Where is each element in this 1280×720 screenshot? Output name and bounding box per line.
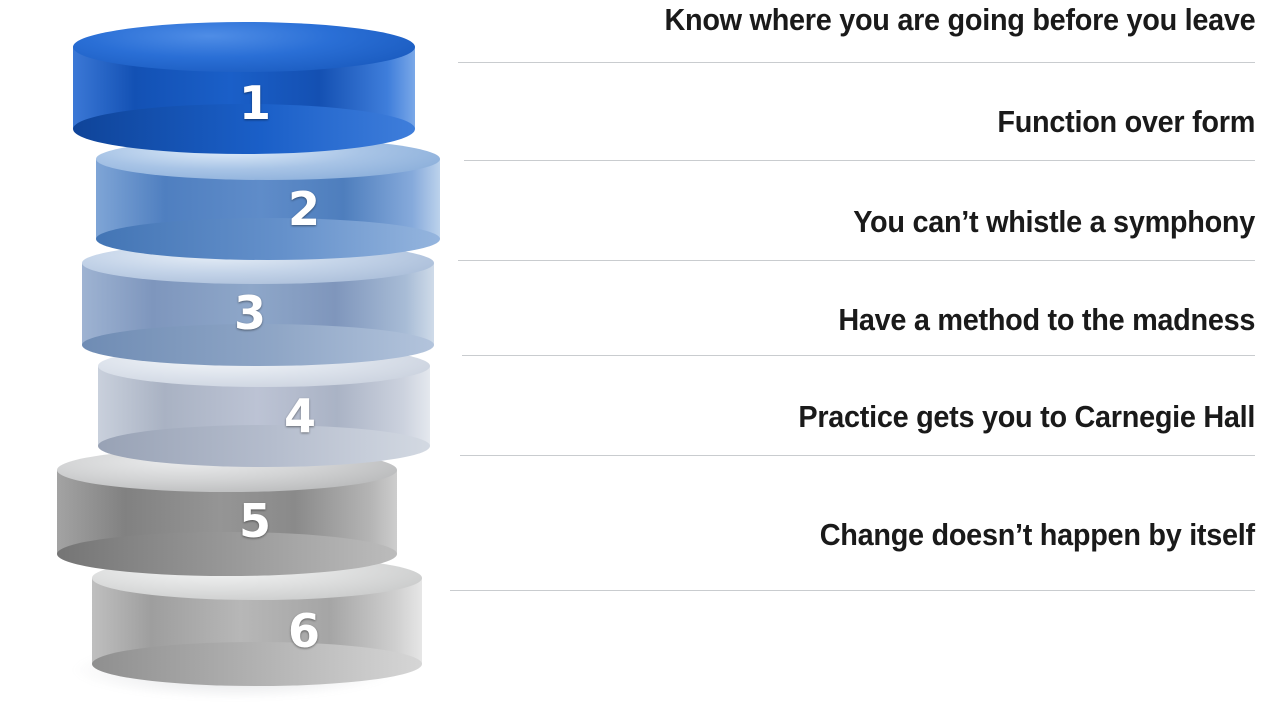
list-item-label: Practice gets you to Carnegie Hall: [798, 399, 1255, 435]
cylinder-4-number: 4: [284, 393, 316, 439]
cylinder-1-number: 1: [239, 80, 271, 126]
list-item[interactable]: Have a method to the madness: [440, 260, 1255, 355]
cylinder-5-bottom-ellipse: [57, 532, 397, 576]
cylinder-2-number: 2: [288, 186, 320, 232]
cylinder-3[interactable]: 3: [82, 242, 434, 366]
cylinder-1[interactable]: 1: [73, 22, 415, 154]
divider-6: [450, 590, 1255, 591]
list-item[interactable]: Change doesn’t happen by itself: [440, 455, 1255, 590]
list-item[interactable]: Practice gets you to Carnegie Hall: [440, 355, 1255, 455]
cylinder-3-number: 3: [234, 290, 266, 336]
list-item-label: Function over form: [997, 104, 1255, 140]
diagram-canvas: 6 5 4 3 2: [0, 0, 1280, 720]
cylinder-6-number: 6: [288, 608, 320, 654]
label-column: Know where you are going before you leav…: [440, 0, 1280, 720]
cylinder-5[interactable]: 5: [57, 448, 397, 576]
cylinder-5-number: 5: [239, 498, 271, 544]
list-item-label: Know where you are going before you leav…: [664, 2, 1255, 38]
list-item[interactable]: You can’t whistle a symphony: [440, 160, 1255, 260]
cylinder-2[interactable]: 2: [96, 138, 440, 260]
list-item-label: You can’t whistle a symphony: [853, 204, 1255, 240]
list-item-label: Change doesn’t happen by itself: [820, 517, 1255, 553]
cylinder-6-bottom-ellipse: [92, 642, 422, 686]
cylinder-4-bottom-ellipse: [98, 425, 430, 467]
cylinder-stack: 6 5 4 3 2: [0, 0, 460, 720]
cylinder-2-bottom-ellipse: [96, 218, 440, 260]
list-item-label: Have a method to the madness: [838, 302, 1255, 338]
cylinder-1-top-ellipse: [73, 22, 415, 72]
list-item[interactable]: Function over form: [440, 62, 1255, 160]
list-item[interactable]: Know where you are going before you leav…: [440, 0, 1255, 62]
